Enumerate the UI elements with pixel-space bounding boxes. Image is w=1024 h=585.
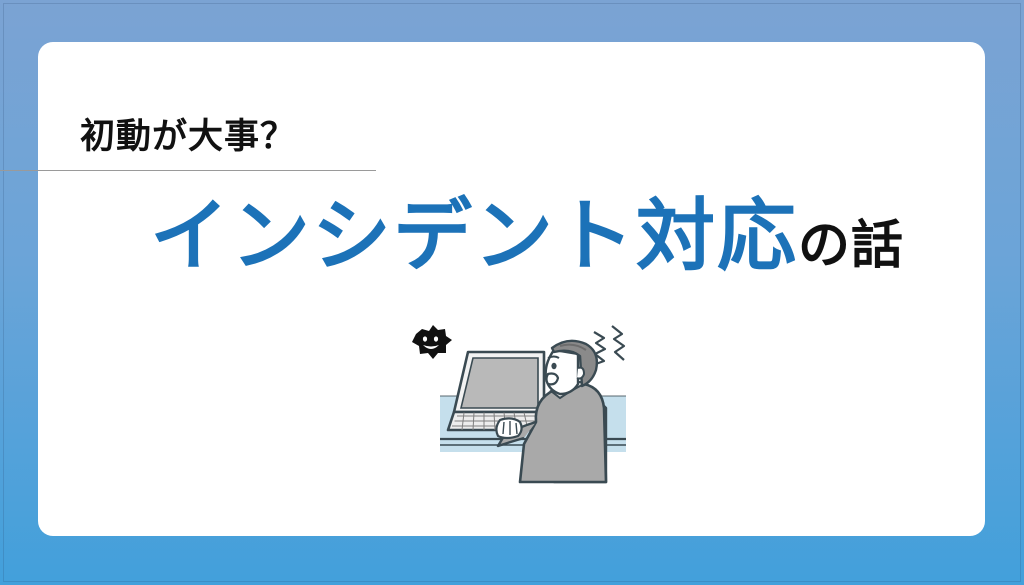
slide-title: インシデント対応の話: [150, 196, 904, 275]
illustration-man-at-laptop: [388, 312, 658, 492]
slide-kicker-underline: [0, 170, 376, 171]
slide-title-main: インシデント対応: [150, 196, 798, 275]
virus-blob-icon: [412, 325, 452, 359]
slide-kicker-text: 初動が大事？: [80, 108, 296, 159]
slide-canvas: 初動が大事？ インシデント対応の話: [0, 0, 1024, 585]
slide-title-suffix: の話: [798, 220, 904, 272]
